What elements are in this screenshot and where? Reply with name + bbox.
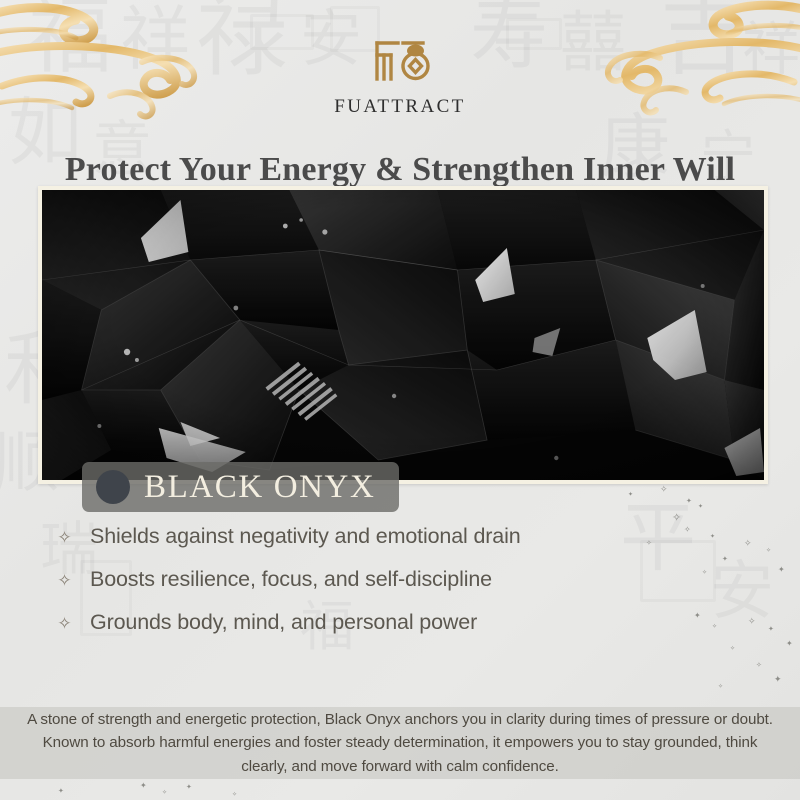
poster-canvas: 福 祥 禄 安 寿 囍 吉 祥 如 意 康 宁 和 顺 平 安 瑞 福 xyxy=(0,0,800,800)
brand-logo: FUATTRACT xyxy=(0,34,800,118)
stone-description: A stone of strength and energetic protec… xyxy=(24,708,776,777)
sparkle-diamond-icon: ✧ xyxy=(56,529,73,546)
benefit-text: Grounds body, mind, and personal power xyxy=(90,610,477,636)
benefit-text: Shields against negativity and emotional… xyxy=(90,524,521,550)
benefit-text: Boosts resilience, focus, and self-disci… xyxy=(90,567,492,593)
brand-name: FUATTRACT xyxy=(0,96,800,118)
stone-color-swatch-icon xyxy=(96,470,130,504)
footer-band: A stone of strength and energetic protec… xyxy=(0,707,800,779)
fuattract-logo-mark-icon xyxy=(0,34,800,91)
hero-image-black-onyx xyxy=(42,190,764,480)
list-item: ✧ Shields against negativity and emotion… xyxy=(56,524,716,550)
stone-name-badge: BLACK ONYX xyxy=(82,462,399,512)
sparkle-diamond-icon: ✧ xyxy=(56,572,73,589)
list-item: ✧ Boosts resilience, focus, and self-dis… xyxy=(56,567,716,593)
stone-name-label: BLACK ONYX xyxy=(144,471,375,504)
page-title: Protect Your Energy & Strengthen Inner W… xyxy=(0,151,800,189)
list-item: ✧ Grounds body, mind, and personal power xyxy=(56,610,716,636)
benefits-list: ✧ Shields against negativity and emotion… xyxy=(56,524,716,652)
hero-image-frame: BLACK ONYX xyxy=(38,186,768,484)
sparkle-diamond-icon: ✧ xyxy=(56,615,73,632)
